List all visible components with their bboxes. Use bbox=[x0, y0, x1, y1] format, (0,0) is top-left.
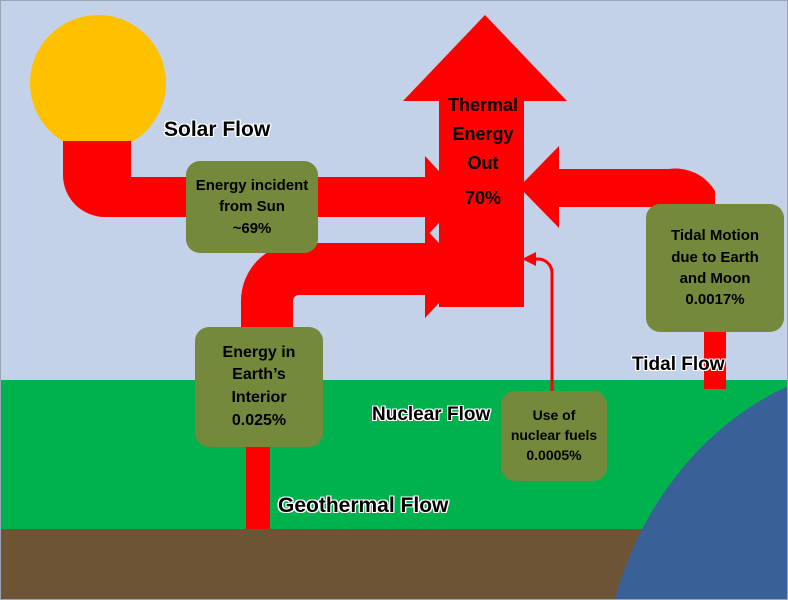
thermal-line-2: Energy bbox=[433, 120, 533, 149]
diagram-canvas: Thermal Energy Out 70% Solar Flow Tidal … bbox=[1, 1, 788, 600]
box-tidal-line-1: Tidal Motion bbox=[671, 225, 759, 246]
label-geothermal-flow: Geothermal Flow bbox=[278, 494, 448, 518]
box-sun-line-1: Energy incident bbox=[196, 175, 309, 196]
box-tidal-motion: Tidal Motion due to Earth and Moon 0.001… bbox=[646, 204, 784, 332]
box-interior-line-1: Energy in bbox=[223, 342, 296, 365]
thermal-line-3: Out bbox=[433, 149, 533, 178]
thermal-spacer bbox=[433, 177, 533, 184]
thermal-line-1: Thermal bbox=[433, 91, 533, 120]
box-tidal-line-2: due to Earth bbox=[671, 247, 759, 268]
box-nuclear-line-2: nuclear fuels bbox=[511, 426, 597, 446]
box-tidal-line-3: and Moon bbox=[680, 268, 751, 289]
box-energy-in-earths-interior: Energy in Earth’s Interior 0.025% bbox=[195, 327, 323, 447]
box-tidal-value: 0.0017% bbox=[685, 289, 744, 310]
energy-flow-diagram: Thermal Energy Out 70% Solar Flow Tidal … bbox=[0, 0, 788, 600]
label-solar-flow: Solar Flow bbox=[164, 118, 270, 142]
box-sun-value: ~69% bbox=[233, 218, 272, 239]
nuclear-flow-arrow bbox=[525, 259, 552, 393]
box-nuclear-line-1: Use of bbox=[533, 406, 576, 426]
geothermal-stem bbox=[246, 441, 270, 529]
nuclear-flow-arrowhead bbox=[522, 252, 536, 266]
thermal-energy-out-label: Thermal Energy Out 70% bbox=[433, 91, 533, 213]
box-energy-incident-from-sun: Energy incident from Sun ~69% bbox=[186, 161, 318, 253]
label-tidal-flow: Tidal Flow bbox=[632, 354, 725, 376]
thermal-value: 70% bbox=[433, 184, 533, 213]
box-sun-line-2: from Sun bbox=[219, 196, 285, 217]
box-interior-line-2: Earth’s bbox=[232, 364, 286, 387]
box-use-of-nuclear-fuels: Use of nuclear fuels 0.0005% bbox=[501, 391, 607, 481]
label-nuclear-flow: Nuclear Flow bbox=[372, 404, 490, 426]
box-interior-value: 0.025% bbox=[232, 410, 286, 433]
box-interior-line-3: Interior bbox=[231, 387, 286, 410]
box-nuclear-value: 0.0005% bbox=[526, 446, 581, 466]
